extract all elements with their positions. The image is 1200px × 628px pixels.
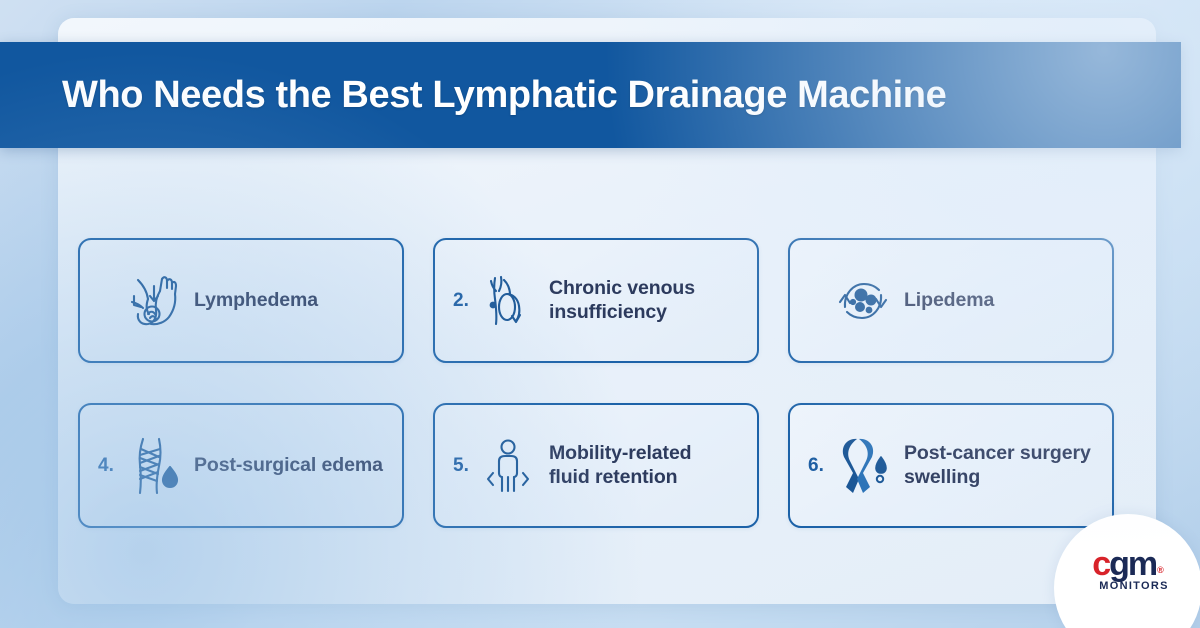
condition-card-mobility-related-fluid-retention[interactable]: 5. Mobility-related fluid retention (433, 403, 759, 528)
vein-valve-icon (479, 270, 537, 332)
title-bar: Who Needs the Best Lymphatic Drainage Ma… (0, 42, 1181, 148)
card-label-line1: Post-cancer surgery (904, 442, 1091, 464)
page-title: Who Needs the Best Lymphatic Drainage Ma… (62, 74, 946, 117)
card-label: Lipedema (904, 289, 994, 313)
condition-card-post-surgical-edema[interactable]: 4. Post-surgical edema (78, 403, 404, 528)
fat-cells-cycle-icon (834, 270, 892, 332)
card-label-line2: fluid retention (549, 466, 678, 488)
card-label: Post-surgical edema (194, 454, 383, 478)
standing-person-arrows-icon (479, 435, 537, 497)
condition-card-post-cancer-surgery-swelling[interactable]: 6. Post-cancer surgery swelling (788, 403, 1114, 528)
brand-wordmark: c gm ® (1092, 550, 1164, 579)
registered-trademark-icon: ® (1157, 566, 1164, 575)
card-label: Lymphedema (194, 289, 318, 313)
card-label: Post-cancer surgery swelling (904, 442, 1091, 490)
brand-letter-c: c (1092, 550, 1109, 579)
condition-card-lipedema[interactable]: Lipedema (788, 238, 1114, 363)
card-label-line1: Chronic venous (549, 277, 695, 299)
card-number: 2. (453, 291, 479, 310)
brand-letters-gm: gm (1109, 550, 1156, 579)
card-number: 5. (453, 456, 479, 475)
infographic-root: Who Needs the Best Lymphatic Drainage Ma… (0, 0, 1200, 628)
swollen-limb-icon (124, 270, 182, 332)
card-label: Mobility-related fluid retention (549, 442, 692, 490)
card-number: 6. (808, 456, 834, 475)
bandaged-leg-droplet-icon (124, 435, 182, 497)
conditions-grid: Lymphedema 2. Chronic venous (78, 238, 1119, 528)
condition-card-chronic-venous-insufficiency[interactable]: 2. Chronic venous insufficiency (433, 238, 759, 363)
condition-card-lymphedema[interactable]: Lymphedema (78, 238, 404, 363)
card-label: Chronic venous insufficiency (549, 277, 695, 325)
brand-subtitle: MONITORS (1099, 580, 1168, 592)
card-label-line1: Mobility-related (549, 442, 692, 464)
awareness-ribbon-droplet-icon (834, 435, 892, 497)
card-label-line2: insufficiency (549, 301, 667, 323)
card-label-line2: swelling (904, 466, 980, 488)
card-number: 4. (98, 456, 124, 475)
